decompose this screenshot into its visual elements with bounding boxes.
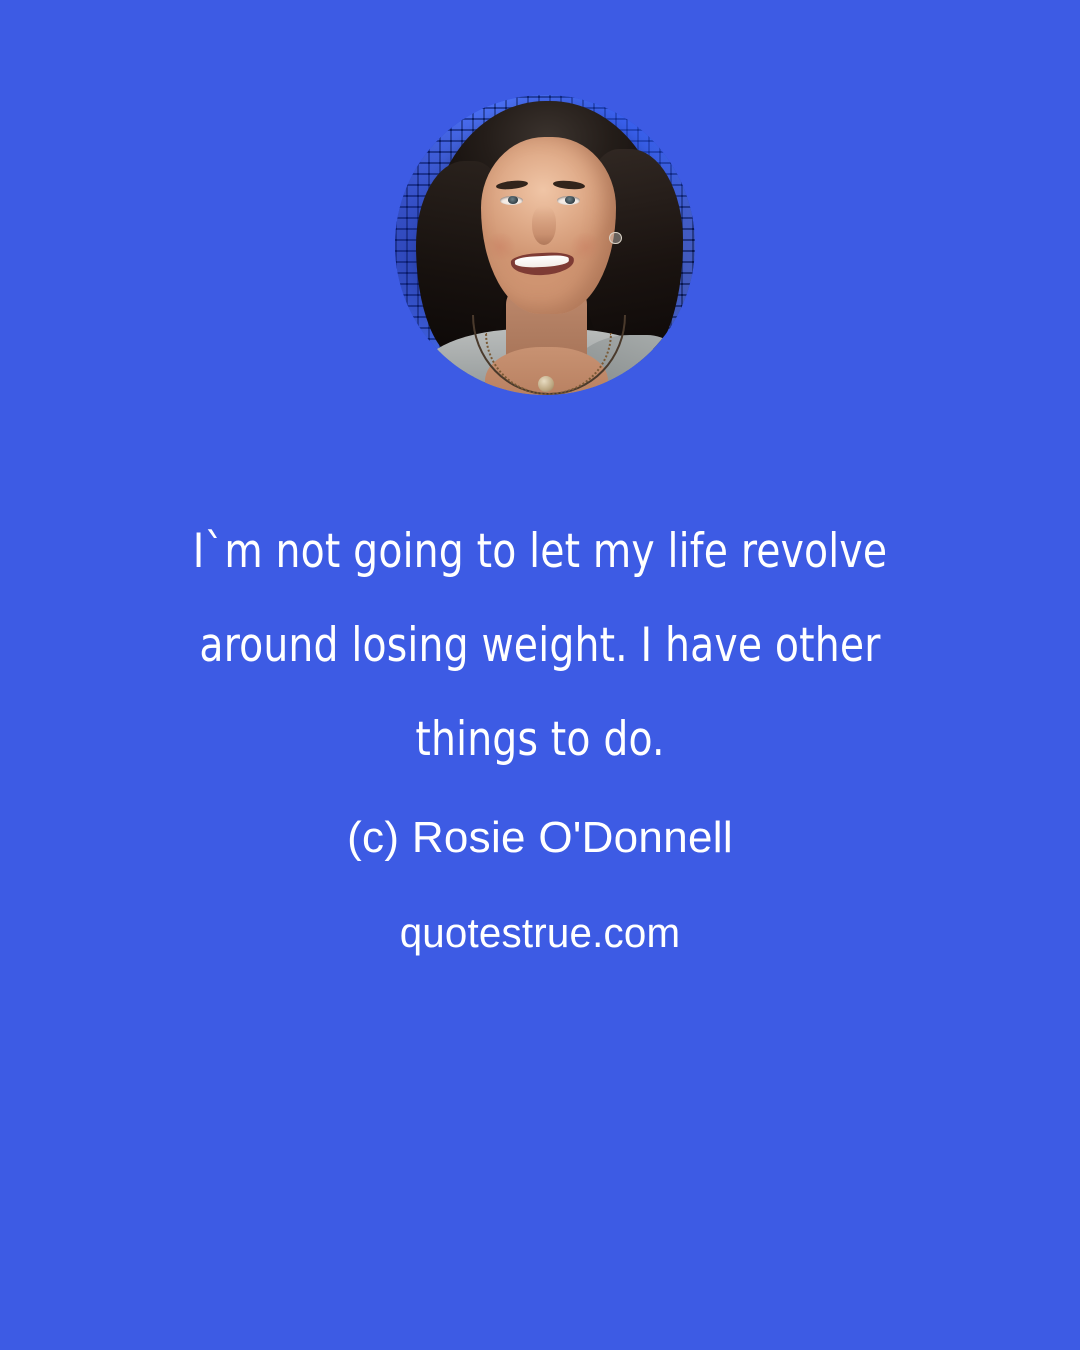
- quote-line-2: around losing weight. I have other: [38, 599, 1042, 693]
- cheek-left: [484, 233, 517, 260]
- quote-attribution: (c) Rosie O'Donnell: [0, 808, 1080, 868]
- avatar: [395, 95, 695, 395]
- quote-line-3: things to do.: [38, 693, 1042, 787]
- cheek-right: [569, 233, 602, 260]
- teeth: [514, 254, 569, 268]
- eye-right: [557, 196, 580, 205]
- eye-left: [500, 196, 523, 205]
- nose: [532, 206, 556, 245]
- quote-line-1: I`m not going to let my life revolve: [38, 505, 1042, 599]
- necklace-pendant: [538, 376, 555, 393]
- author-portrait: [395, 95, 695, 395]
- quote-card: I`m not going to let my life revolve aro…: [0, 0, 1080, 1350]
- website-watermark: quotestrue.com: [22, 903, 1059, 963]
- quote-text: I`m not going to let my life revolve aro…: [38, 505, 1042, 787]
- earring: [609, 232, 621, 244]
